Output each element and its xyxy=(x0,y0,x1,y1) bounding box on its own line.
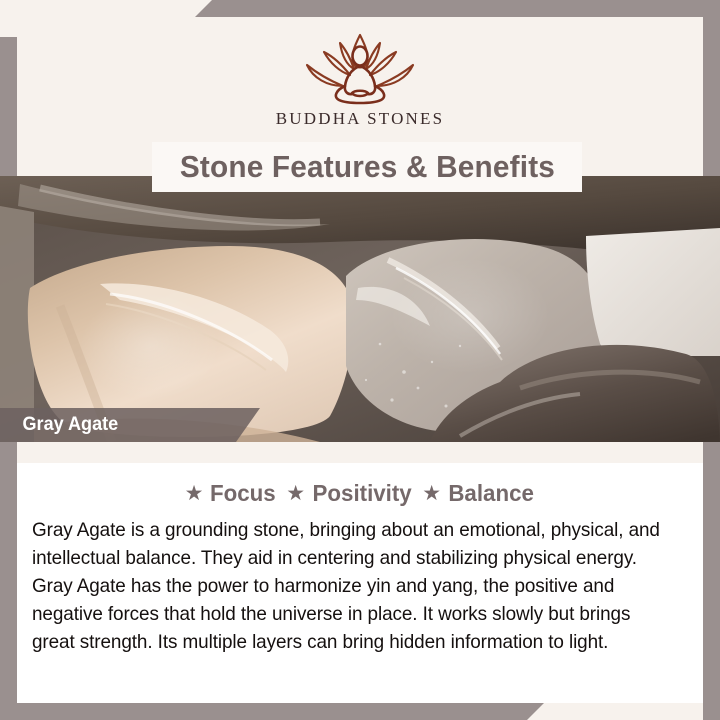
star-icon: ★ xyxy=(185,483,204,504)
benefit-item-positivity: ★ Positivity xyxy=(286,480,413,507)
benefit-label: Focus xyxy=(210,480,276,507)
poster-card: BUDDHA STONES Stone Features & Benefits xyxy=(17,17,703,703)
photo-caption-text: Gray Agate xyxy=(23,414,119,436)
lotus-meditation-figure-icon xyxy=(285,29,435,105)
description-panel: ★ Focus ★ Positivity ★ Balance Gray Agat… xyxy=(17,463,703,703)
benefit-label: Positivity xyxy=(313,480,412,507)
frame-top-accent xyxy=(195,0,720,17)
photo-panel-divider xyxy=(17,442,703,463)
page-title: Stone Features & Benefits xyxy=(179,149,554,185)
photo-caption-banner: Gray Agate xyxy=(0,408,260,442)
benefits-row: ★ Focus ★ Positivity ★ Balance xyxy=(17,463,703,507)
stone-photo: Gray Agate xyxy=(0,176,720,442)
star-icon: ★ xyxy=(422,483,441,504)
brand-wordmark: BUDDHA STONES xyxy=(276,109,445,129)
frame-bottom-accent xyxy=(0,702,545,720)
description-text: Gray Agate is a grounding stone, bringin… xyxy=(32,516,665,656)
benefit-item-focus: ★ Focus xyxy=(185,480,278,507)
stone-photo-image xyxy=(0,176,720,442)
stone-feature-poster: BUDDHA STONES Stone Features & Benefits xyxy=(0,0,720,720)
brand-logo: BUDDHA STONES xyxy=(17,29,703,129)
title-banner: Stone Features & Benefits xyxy=(152,142,582,192)
poster-header: BUDDHA STONES Stone Features & Benefits xyxy=(17,17,703,176)
benefit-label: Balance xyxy=(448,480,534,507)
star-icon: ★ xyxy=(286,483,305,504)
benefit-item-balance: ★ Balance xyxy=(422,480,535,507)
